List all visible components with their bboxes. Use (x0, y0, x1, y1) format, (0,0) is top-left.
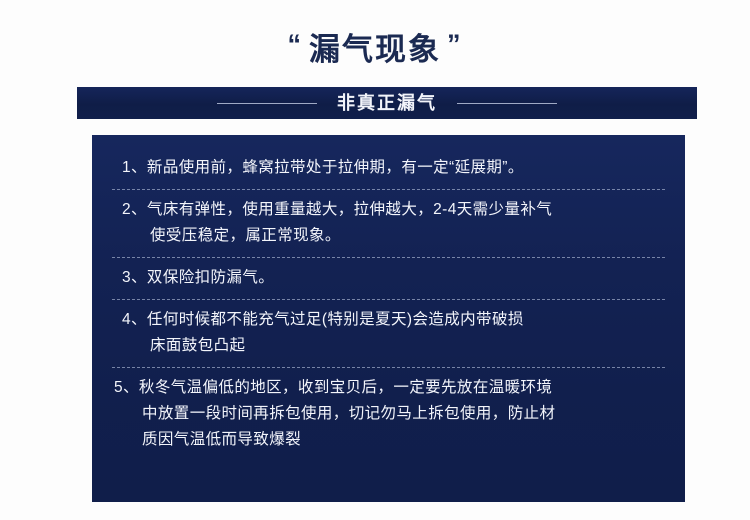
close-quote-mark: ” (447, 29, 463, 59)
list-item: 2、气床有弹性，使用重量越大，拉伸越大，2-4天需少量补气 使受压稳定，属正常现… (110, 193, 667, 254)
list-divider (112, 299, 665, 300)
list-item-line: 1、新品使用前，蜂窝拉带处于拉伸期，有一定“延展期”。 (122, 155, 667, 181)
list-item-line: 质因气温低而导致爆裂 (114, 427, 667, 453)
list-divider (112, 189, 665, 190)
banner-label: 非真正漏气 (337, 94, 437, 112)
notes-list-container: 1、新品使用前，蜂窝拉带处于拉伸期，有一定“延展期”。 2、气床有弹性，使用重量… (92, 135, 685, 502)
list-item-line: 中放置一段时间再拆包使用，切记勿马上拆包使用，防止材 (114, 401, 667, 427)
list-divider (112, 257, 665, 258)
list-item-line: 2、气床有弹性，使用重量越大，拉伸越大，2-4天需少量补气 (122, 197, 667, 223)
list-divider (112, 367, 665, 368)
list-item: 5、秋冬气温偏低的地区，收到宝贝后，一定要先放在温暖环境 中放置一段时间再拆包使… (110, 371, 667, 458)
section-banner: 非真正漏气 (77, 87, 697, 119)
open-quote-mark: “ (288, 29, 304, 59)
list-item-line: 4、任何时候都不能充气过足(特别是夏天)会造成内带破损 (122, 307, 667, 333)
banner-rule-left (217, 103, 317, 104)
banner-rule-right (457, 103, 557, 104)
promo-page: “漏气现象” 非真正漏气 1、新品使用前，蜂窝拉带处于拉伸期，有一定“延展期”。… (0, 0, 750, 520)
list-item: 3、双保险扣防漏气。 (110, 261, 667, 296)
page-title-text: “漏气现象” (288, 34, 463, 65)
page-title-label: 漏气现象 (309, 32, 441, 67)
list-item-line: 使受压稳定，属正常现象。 (122, 223, 667, 249)
page-title: “漏气现象” (0, 34, 750, 65)
list-item-line: 5、秋冬气温偏低的地区，收到宝贝后，一定要先放在温暖环境 (114, 375, 667, 401)
list-item: 1、新品使用前，蜂窝拉带处于拉伸期，有一定“延展期”。 (110, 151, 667, 186)
list-item-line: 床面鼓包凸起 (122, 333, 667, 359)
list-item-line: 3、双保险扣防漏气。 (122, 265, 667, 291)
list-item: 4、任何时候都不能充气过足(特别是夏天)会造成内带破损 床面鼓包凸起 (110, 303, 667, 364)
